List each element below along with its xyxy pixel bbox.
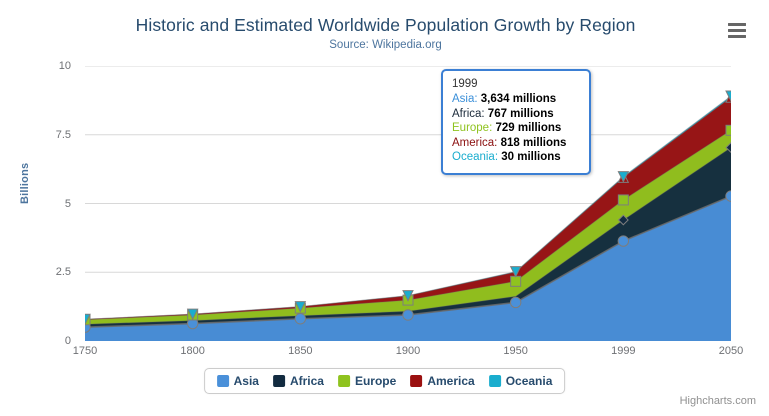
legend-swatch-oceania-icon xyxy=(489,375,501,387)
chart-tooltip: 1999 Asia: 3,634 millionsAfrica: 767 mil… xyxy=(441,69,591,175)
hamburger-bar-1 xyxy=(728,23,746,26)
tooltip-row-oceania: Oceania: 30 millions xyxy=(452,150,580,165)
tooltip-series-value: 729 millions xyxy=(495,122,561,134)
chart-title: Historic and Estimated Worldwide Populat… xyxy=(1,15,769,36)
credits-label[interactable]: Highcharts.com xyxy=(680,395,756,407)
legend-swatch-america-icon xyxy=(410,375,422,387)
marker-asia-1999[interactable] xyxy=(618,236,628,246)
tooltip-row-asia: Asia: 3,634 millions xyxy=(452,92,580,107)
tooltip-series-name: Africa: xyxy=(452,108,488,120)
legend-label: Oceania xyxy=(506,374,553,388)
highcharts-container: Historic and Estimated Worldwide Populat… xyxy=(0,0,769,416)
y-tick-2: 5 xyxy=(25,198,71,210)
x-tick-4: 1950 xyxy=(486,345,546,357)
tooltip-series-name: Oceania: xyxy=(452,151,501,163)
hamburger-bar-3 xyxy=(728,35,746,38)
legend-item-america[interactable]: America xyxy=(410,374,474,388)
legend-item-europe[interactable]: Europe xyxy=(338,374,396,388)
y-tick-1: 2.5 xyxy=(25,266,71,278)
chart-svg xyxy=(85,66,731,341)
marker-asia-1850[interactable] xyxy=(295,314,305,324)
chart-subtitle: Source: Wikipedia.org xyxy=(1,39,769,51)
tooltip-series-value: 30 millions xyxy=(501,151,560,163)
hamburger-menu-icon[interactable] xyxy=(724,17,750,43)
tooltip-series-name: Europe: xyxy=(452,122,495,134)
legend-swatch-europe-icon xyxy=(338,375,350,387)
x-tick-5: 1999 xyxy=(593,345,653,357)
marker-europe-2050[interactable] xyxy=(726,125,731,135)
tooltip-series-value: 3,634 millions xyxy=(481,93,556,105)
marker-europe-1950[interactable] xyxy=(511,276,521,286)
legend-swatch-asia-icon xyxy=(217,375,229,387)
legend-item-oceania[interactable]: Oceania xyxy=(489,374,553,388)
y-tick-3: 7.5 xyxy=(25,129,71,141)
legend-label: Africa xyxy=(290,374,324,388)
marker-asia-1950[interactable] xyxy=(510,297,520,307)
tooltip-rows: Asia: 3,634 millionsAfrica: 767 millions… xyxy=(452,92,580,165)
tooltip-row-america: America: 818 millions xyxy=(452,136,580,151)
tooltip-series-name: America: xyxy=(452,137,501,149)
tooltip-series-name: Asia: xyxy=(452,93,481,105)
tooltip-header: 1999 xyxy=(452,78,580,90)
legend-item-africa[interactable]: Africa xyxy=(273,374,324,388)
x-tick-2: 1850 xyxy=(270,345,330,357)
x-tick-3: 1900 xyxy=(378,345,438,357)
x-tick-6: 2050 xyxy=(701,345,761,357)
y-tick-4: 10 xyxy=(25,60,71,72)
legend-label: America xyxy=(427,374,474,388)
legend-swatch-africa-icon xyxy=(273,375,285,387)
hamburger-bar-2 xyxy=(728,29,746,32)
marker-europe-1999[interactable] xyxy=(618,195,628,205)
tooltip-row-africa: Africa: 767 millions xyxy=(452,107,580,122)
legend-label: Europe xyxy=(355,374,396,388)
legend-item-asia[interactable]: Asia xyxy=(217,374,259,388)
tooltip-row-europe: Europe: 729 millions xyxy=(452,121,580,136)
tooltip-series-value: 818 millions xyxy=(501,137,567,149)
legend-label: Asia xyxy=(234,374,259,388)
plot-area xyxy=(85,66,731,341)
chart-legend[interactable]: AsiaAfricaEuropeAmericaOceania xyxy=(204,368,566,394)
tooltip-series-value: 767 millions xyxy=(488,108,554,120)
x-tick-0: 1750 xyxy=(55,345,115,357)
marker-asia-1900[interactable] xyxy=(403,310,413,320)
x-tick-1: 1800 xyxy=(163,345,223,357)
